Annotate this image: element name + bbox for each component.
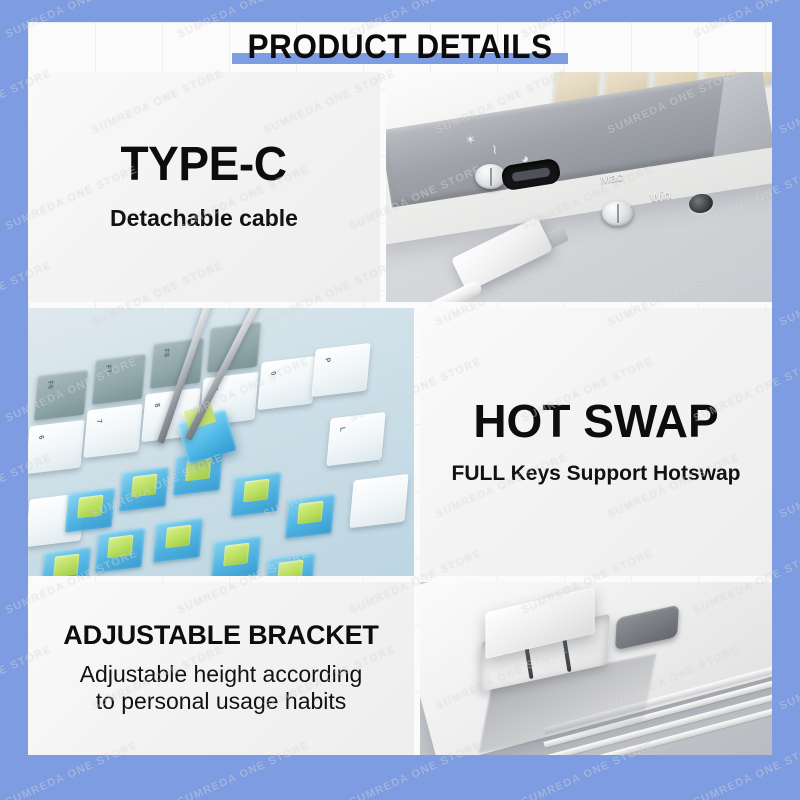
keycap-legend: F8: [162, 349, 169, 359]
keycap-legend: F6: [46, 381, 53, 391]
keycap: F7: [91, 353, 146, 404]
watermark-text: SUMREDA ONE STORE: [778, 451, 800, 520]
infographic-frame: PRODUCT DETAILS TYPE-C Detachable cable …: [0, 0, 800, 800]
page-title: PRODUCT DETAILS: [247, 28, 552, 67]
bracket-headline: ADJUSTABLE BRACKET: [63, 622, 378, 649]
keycap-legend: F7: [104, 365, 111, 375]
switch[interactable]: [64, 488, 115, 534]
usb-c-cable: [394, 228, 572, 302]
hot-swap-headline: HOT SWAP: [473, 398, 718, 444]
switch[interactable]: [153, 517, 204, 563]
mac-win-switch[interactable]: [602, 201, 633, 226]
cable-wire: [386, 279, 484, 302]
watermark-text: SUMREDA ONE STORE: [778, 259, 800, 328]
page-header: PRODUCT DETAILS: [28, 22, 772, 72]
keycap: P: [311, 342, 370, 396]
keycap: 7: [83, 404, 142, 458]
panel-hot-swap: HOT SWAP FULL Keys Support Hotswap: [420, 308, 772, 576]
type-c-subtitle: Detachable cable: [110, 205, 298, 232]
panel-bracket-photo: [420, 582, 772, 755]
keycap-legend: 6: [37, 435, 44, 440]
switch[interactable]: [118, 466, 169, 512]
keycap: [350, 474, 409, 528]
keycap: L: [326, 412, 385, 466]
keycap-legend: 0: [268, 370, 275, 375]
keycap-legend: 7: [95, 419, 102, 424]
panel-io-photo: F11 F12 ✶ ≀ ◕ Mac Win: [386, 72, 772, 302]
panel-type-c: TYPE-C Detachable cable: [28, 72, 380, 302]
type-c-headline: TYPE-C: [121, 141, 287, 189]
keycap-legend: L: [338, 426, 345, 432]
switch[interactable]: [95, 528, 146, 574]
bracket-subtitle-line2: to personal usage habits: [96, 688, 347, 715]
switch[interactable]: [265, 552, 316, 576]
bracket-subtitle-line1: Adjustable height according: [80, 661, 363, 688]
panel-hotswap-photo: F6 F7 F8 6 7 8 9 0 P L: [28, 308, 414, 576]
keycap-legend: P: [323, 357, 330, 363]
panel-grid: TYPE-C Detachable cable F11 F12 ✶ ≀ ◕: [28, 72, 772, 755]
switch[interactable]: [284, 493, 335, 539]
watermark-text: SUMREDA ONE STORE: [778, 67, 800, 136]
win-label: Win: [649, 188, 672, 205]
panel-bracket-text: ADJUSTABLE BRACKET Adjustable height acc…: [28, 582, 414, 755]
watermark-text: SUMREDA ONE STORE: [778, 643, 800, 712]
cable-plug: [451, 217, 553, 292]
keycap-legend: 8: [153, 403, 160, 408]
keycap: 0: [257, 356, 316, 410]
content-canvas: PRODUCT DETAILS TYPE-C Detachable cable …: [28, 22, 772, 755]
hot-swap-subtitle: FULL Keys Support Hotswap: [452, 462, 741, 487]
switch[interactable]: [230, 471, 281, 517]
switch[interactable]: [211, 536, 262, 576]
switch[interactable]: [41, 547, 92, 576]
keycap: 6: [28, 420, 85, 474]
keycap: F6: [33, 369, 88, 420]
